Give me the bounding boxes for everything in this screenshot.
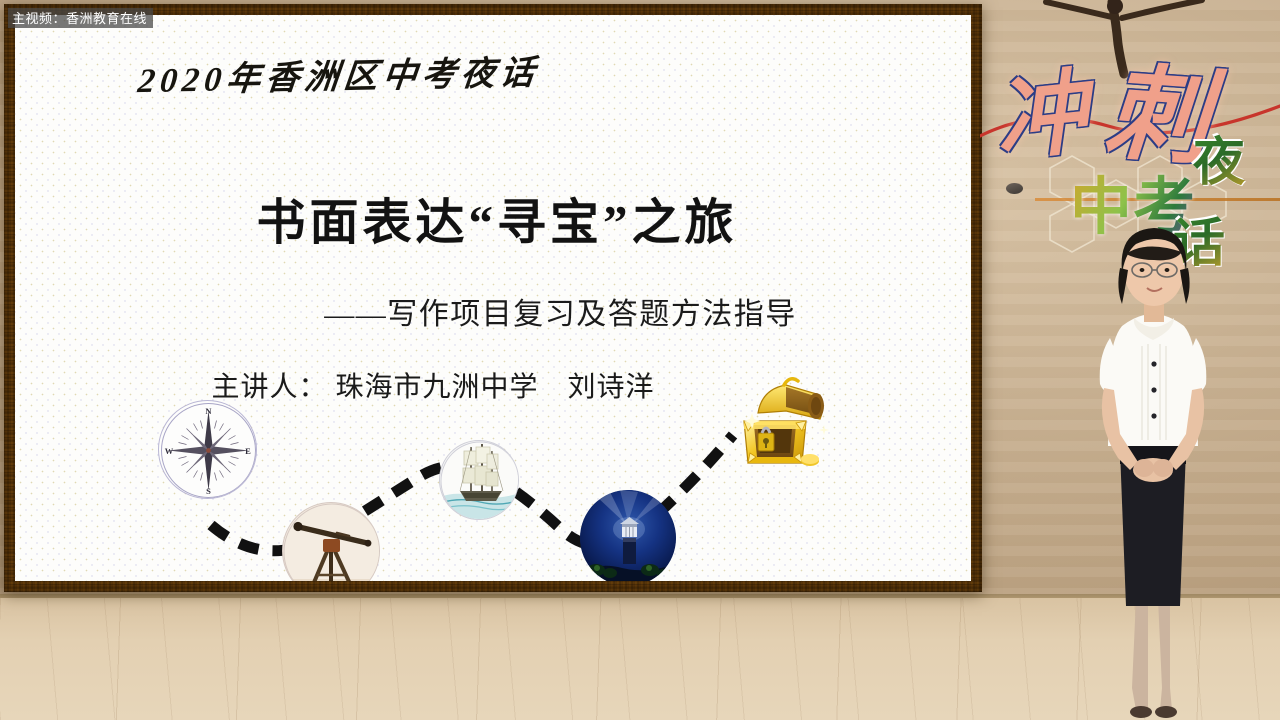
logo-char-ye: 夜: [1193, 120, 1245, 195]
svg-text:W: W: [165, 446, 174, 456]
svg-text:E: E: [245, 446, 251, 456]
compass-rose-icon: N S W E: [158, 400, 257, 499]
svg-text:N: N: [205, 406, 212, 416]
treasure-chest-icon: [728, 373, 838, 473]
video-source-label: 主视频：香洲教育在线: [8, 8, 153, 28]
svg-text:S: S: [206, 486, 211, 496]
projection-board-frame: 2020年香洲区中考夜话 书面表达“寻宝”之旅 ——写作项目复习及答题方法指导 …: [4, 4, 982, 592]
presenter-figure: [1078, 218, 1228, 720]
video-source-label-text: 主视频：香洲教育在线: [12, 12, 147, 25]
slide-content: 2020年香洲区中考夜话 书面表达“寻宝”之旅 ——写作项目复习及答题方法指导 …: [15, 15, 971, 581]
studio-stage: 冲 刺 中考 夜 话: [0, 0, 1280, 720]
lighthouse-night-icon: [580, 490, 676, 581]
sailing-ship-icon: [439, 440, 519, 520]
slide-canvas: 2020年香洲区中考夜话 书面表达“寻宝”之旅 ——写作项目复习及答题方法指导 …: [15, 15, 971, 581]
